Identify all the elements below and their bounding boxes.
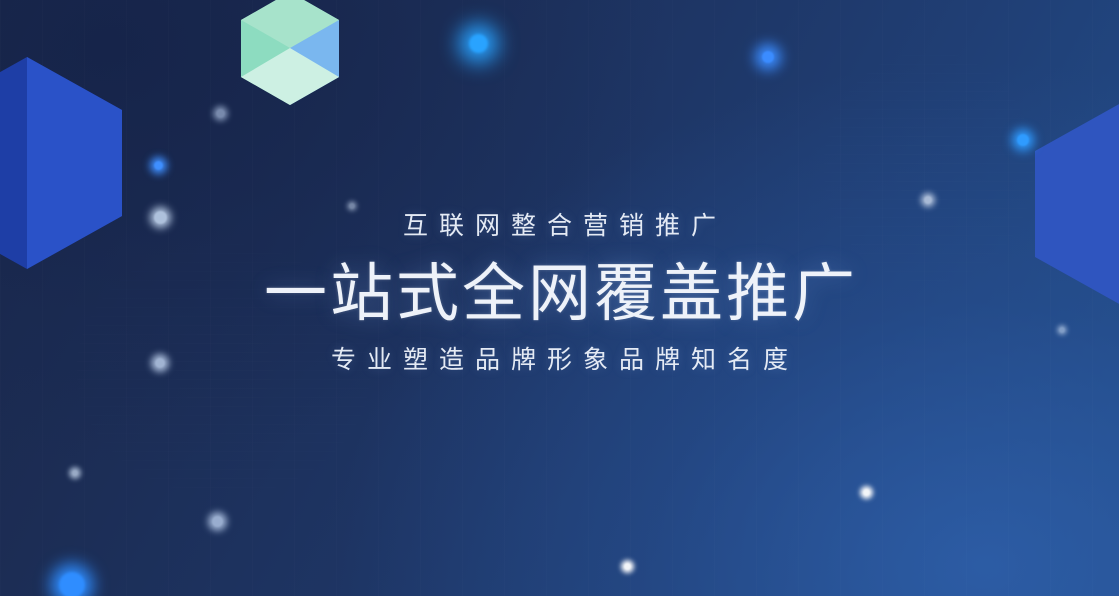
particle-dot <box>72 470 78 476</box>
banner-text-block: 互联网整合营销推广 一站式全网覆盖推广 专业塑造品牌形象品牌知名度 <box>0 214 1119 373</box>
particle-dot <box>469 34 488 53</box>
particle-dot <box>762 51 774 63</box>
banner-subline: 专业塑造品牌形象品牌知名度 <box>0 348 1119 373</box>
particle-dot <box>1017 134 1029 146</box>
banner-eyebrow: 互联网整合营销推广 <box>0 214 1119 239</box>
particle-dot <box>59 572 85 596</box>
particle-dot <box>863 489 870 496</box>
particle-dot <box>349 203 355 209</box>
particle-dot <box>212 516 223 527</box>
particle-dot <box>624 563 631 570</box>
particle-dot <box>924 196 932 204</box>
isometric-cube-logo-icon <box>241 0 339 105</box>
banner-headline: 一站式全网覆盖推广 <box>0 260 1119 328</box>
particle-dot <box>216 109 225 118</box>
promo-banner: 互联网整合营销推广 一站式全网覆盖推广 专业塑造品牌形象品牌知名度 <box>0 0 1119 596</box>
particle-dot <box>154 161 163 170</box>
